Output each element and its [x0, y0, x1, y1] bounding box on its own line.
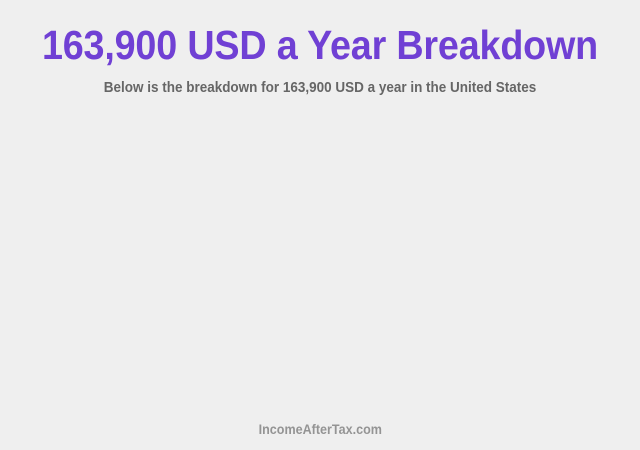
page-footer: IncomeAfterTax.com [0, 421, 640, 439]
page-header: 163,900 USD a Year Breakdown Below is th… [0, 0, 640, 97]
page-root: 163,900 USD a Year Breakdown Below is th… [0, 0, 640, 450]
chart-canvas [0, 118, 640, 406]
site-watermark: IncomeAfterTax.com [258, 421, 381, 438]
page-title: 163,900 USD a Year Breakdown [26, 22, 615, 68]
page-subtitle: Below is the breakdown for 163,900 USD a… [22, 68, 617, 97]
chart-area [0, 118, 640, 406]
